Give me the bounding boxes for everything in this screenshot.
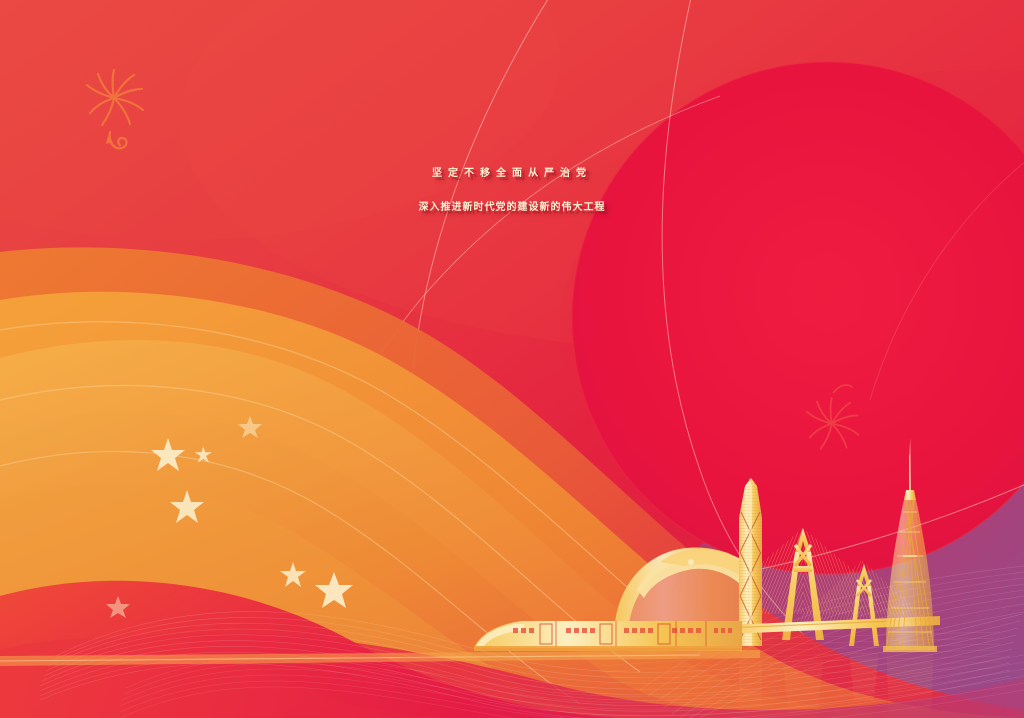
firework-icon	[807, 385, 859, 448]
star-icon	[315, 572, 353, 608]
star-icon	[280, 562, 306, 587]
decoration-layer	[0, 0, 1024, 718]
firework-icon	[87, 70, 143, 148]
star-icon	[106, 596, 130, 618]
star-icon	[238, 416, 262, 438]
star-icon	[170, 490, 204, 523]
stars-group	[106, 416, 353, 618]
star-icon	[151, 438, 185, 471]
poster-canvas: 坚定不移全面从严治党 深入推进新时代党的建设新的伟大工程	[0, 0, 1024, 718]
star-icon	[195, 447, 212, 463]
